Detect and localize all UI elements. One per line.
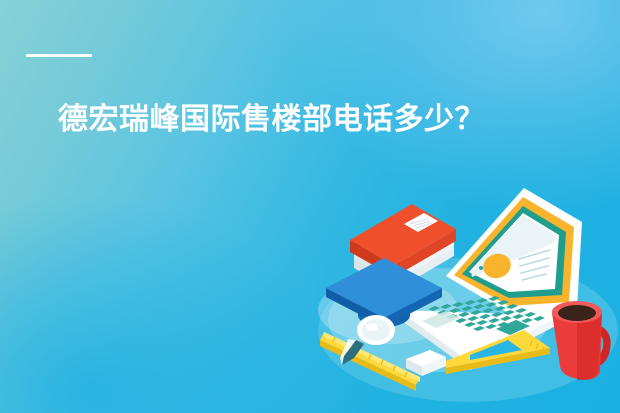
background-glow-bottom-left xyxy=(0,193,340,413)
accent-rule xyxy=(26,54,92,57)
illustration xyxy=(318,180,620,413)
promo-banner: 德宏瑞峰国际售楼部电话多少？ xyxy=(0,0,620,413)
page-title: 德宏瑞峰国际售楼部电话多少？ xyxy=(58,101,578,139)
